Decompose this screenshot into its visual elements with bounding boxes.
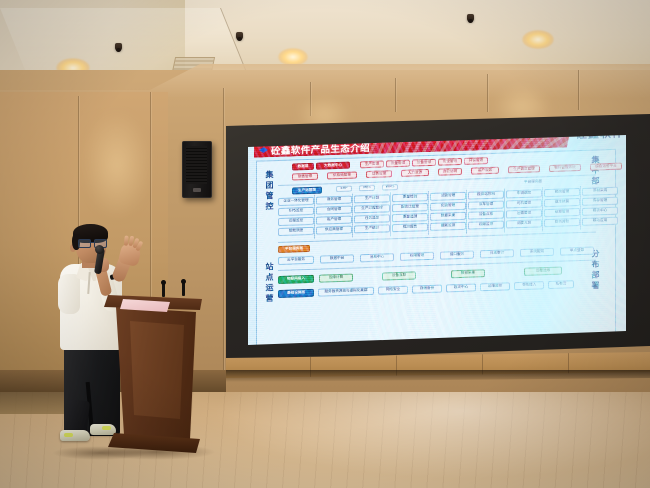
presenter-open-hand — [118, 242, 142, 267]
diamond-bullet-icon — [259, 147, 268, 153]
tag-safety-mgmt[interactable]: 安全管理 — [438, 158, 462, 166]
label-group-control: 集团管控 — [264, 170, 275, 212]
grid-cell[interactable]: 质量追溯 — [392, 213, 428, 222]
grid-cell[interactable]: 磅房管理 — [544, 188, 580, 197]
grid-cell[interactable]: 生产统计 — [354, 224, 390, 233]
podium-microphone-2[interactable] — [182, 282, 185, 296]
iot-item[interactable]: 远程运维 — [524, 267, 562, 276]
downlight-3 — [522, 30, 554, 49]
tag-sales[interactable]: 销售管理 — [292, 173, 318, 181]
grid-cell[interactable]: 商务管理 — [316, 196, 352, 205]
grid-cell[interactable]: 客户管理 — [316, 216, 352, 225]
tag-material-sys[interactable]: 物料管理系统 — [549, 164, 581, 172]
led-screen-surface[interactable]: 砼鑫软件产品生态介绍 砼鑫软件 集团管控 站点运营 集中部署 分布部署 数据层 … — [248, 135, 626, 345]
presenter-shoe-left — [60, 430, 90, 441]
tag-edge-compute[interactable]: 边缘计算 — [319, 274, 353, 283]
band-item[interactable]: 日志审计 — [480, 249, 514, 258]
grid-cell[interactable]: 财务对账 — [544, 218, 580, 227]
slide-canvas: 砼鑫软件产品生态介绍 砼鑫软件 集团管控 站点运营 集中部署 分布部署 数据层 … — [248, 135, 626, 345]
iot-item[interactable]: 数据采集 — [451, 269, 485, 278]
grid-cell[interactable]: 检测报告 — [392, 223, 428, 232]
wall-seam-6 — [487, 74, 488, 112]
band-item[interactable]: 权限管理 — [400, 252, 434, 261]
grid-cell[interactable]: 生产计划 — [354, 194, 390, 203]
band-item[interactable]: 系统配置 — [520, 248, 554, 257]
tag-equip-mgmt[interactable]: 设备管理 — [412, 159, 436, 167]
band-item[interactable]: 消息中心 — [360, 253, 394, 262]
grid-cell[interactable]: 化验管理 — [430, 202, 466, 211]
infra-item[interactable]: 私有云 — [548, 280, 574, 289]
wall-speaker — [182, 141, 212, 198]
infra-item[interactable]: 专线接入 — [514, 281, 544, 290]
tag-env-mgmt[interactable]: 环保管理 — [464, 157, 488, 165]
infra-item[interactable]: 容灾中心 — [446, 283, 476, 292]
microphone-head-icon — [95, 245, 104, 254]
grid-cell[interactable]: 任务派发 — [354, 214, 390, 223]
grid-cell[interactable]: 调度大屏 — [506, 219, 542, 228]
grid-cell[interactable]: 配合比管理 — [392, 203, 428, 212]
tag-finance[interactable]: 财务管理 — [366, 170, 392, 178]
tag-mes[interactable]: MES — [359, 185, 375, 192]
tag-platform-layer[interactable]: 平台服务层 — [278, 245, 310, 253]
grid-cell[interactable]: 运输管理 — [506, 209, 542, 218]
grid-cell[interactable]: 试验管理 — [430, 192, 466, 201]
speaker-badge — [193, 188, 201, 192]
podium-microphone-1[interactable] — [162, 283, 165, 297]
tag-supply-chain[interactable]: 供应链管理 — [327, 171, 357, 179]
tag-misc: 平台服务层 — [516, 179, 550, 186]
tag-iot-access[interactable]: 物联网接入 — [278, 275, 314, 284]
wall-seam-7 — [578, 70, 579, 110]
wall-seam-3 — [223, 88, 224, 374]
tag-bigdata-center[interactable]: 大数据中心 — [316, 162, 350, 170]
tag-dispatch[interactable]: 生产调度管理 — [508, 165, 540, 173]
grid-cell[interactable]: 智能调度 — [278, 227, 314, 236]
infra-item[interactable]: 运维监控 — [480, 282, 510, 291]
grid-cell[interactable]: 数据采集 — [430, 212, 466, 221]
podium — [104, 295, 202, 455]
grid-cell[interactable]: 视频监控 — [468, 221, 504, 230]
infra-item[interactable]: 存储备份 — [412, 285, 442, 294]
tag-quality-mgmt[interactable]: 质量管理 — [386, 160, 410, 168]
grid-cell[interactable]: 原材采购 — [582, 187, 618, 196]
grid-cell[interactable]: 报表中心 — [582, 207, 618, 216]
grid-cell[interactable]: 供应商管理 — [316, 226, 352, 235]
floor-sheen — [180, 392, 650, 488]
tag-ops-platform[interactable]: 综合运营平台 — [590, 163, 622, 171]
tag-wms[interactable]: WMS — [382, 184, 398, 191]
wall-seam-5 — [395, 78, 396, 112]
grid-cell[interactable]: GPS监控 — [278, 207, 314, 216]
grid-cell[interactable]: 设备点检 — [468, 211, 504, 220]
band-item[interactable]: 数据中台 — [320, 254, 354, 263]
podium-front-panel — [128, 321, 184, 419]
grid-cell[interactable]: 搅拌站控制 — [468, 191, 504, 200]
grid-cell[interactable]: 生产过程管控 — [354, 204, 390, 213]
band-item[interactable]: 接口服务 — [440, 251, 474, 260]
sprinkler-2 — [236, 32, 243, 40]
grid-cell[interactable]: 合同管理 — [316, 206, 352, 215]
tag-erp[interactable]: ERP — [336, 186, 352, 193]
sprinkler-3 — [467, 14, 474, 22]
tag-office[interactable]: 办公协同 — [438, 168, 462, 176]
grid-cell[interactable]: 质量检验 — [392, 193, 428, 202]
tag-data-layer[interactable]: 数据层 — [292, 163, 314, 171]
tag-infra-layer[interactable]: 基础设施层 — [278, 289, 314, 298]
grid-cell[interactable]: 车辆调度 — [506, 189, 542, 198]
speaker-grille — [186, 146, 207, 184]
grid-cell[interactable]: 移动应用 — [582, 217, 618, 226]
infra-item[interactable]: 网络安全 — [378, 286, 408, 295]
wall-glow-1 — [82, 110, 152, 220]
tag-prod-mgmt[interactable]: 生产管理 — [360, 160, 384, 168]
grid-cell[interactable]: 泵车管理 — [468, 201, 504, 210]
grid-cell[interactable]: 远程监控 — [278, 217, 314, 226]
grid-cell[interactable]: 成本核算 — [544, 198, 580, 207]
tag-customer-service[interactable]: 客户服务 — [471, 167, 499, 175]
tag-hr[interactable]: 人力资源 — [401, 169, 429, 177]
grid-cell[interactable]: 企业一体化管理 — [278, 197, 314, 206]
presenter-left-sleeve — [58, 274, 80, 314]
grid-cell[interactable]: 司机管理 — [506, 199, 542, 208]
band-item[interactable]: 云平台服务 — [278, 256, 314, 265]
downlight-2 — [278, 48, 308, 66]
tag-production-layer[interactable]: 生产运营层 — [292, 187, 322, 195]
presentation-photo-scene: 砼鑫软件产品生态介绍 砼鑫软件 集团管控 站点运营 集中部署 分布部署 数据层 … — [0, 0, 650, 488]
grid-cell[interactable]: 库存管理 — [582, 197, 618, 206]
iot-item[interactable]: 设备互联 — [382, 271, 416, 280]
label-site-operation: 站点运营 — [264, 262, 275, 304]
label-distributed-deploy: 分布部署 — [590, 249, 601, 291]
grid-cell[interactable]: 结算管理 — [544, 208, 580, 217]
sprinkler-1 — [115, 43, 122, 51]
band-item[interactable]: 单点登录 — [560, 247, 594, 256]
grid-cell[interactable]: 能耗监测 — [430, 222, 466, 231]
